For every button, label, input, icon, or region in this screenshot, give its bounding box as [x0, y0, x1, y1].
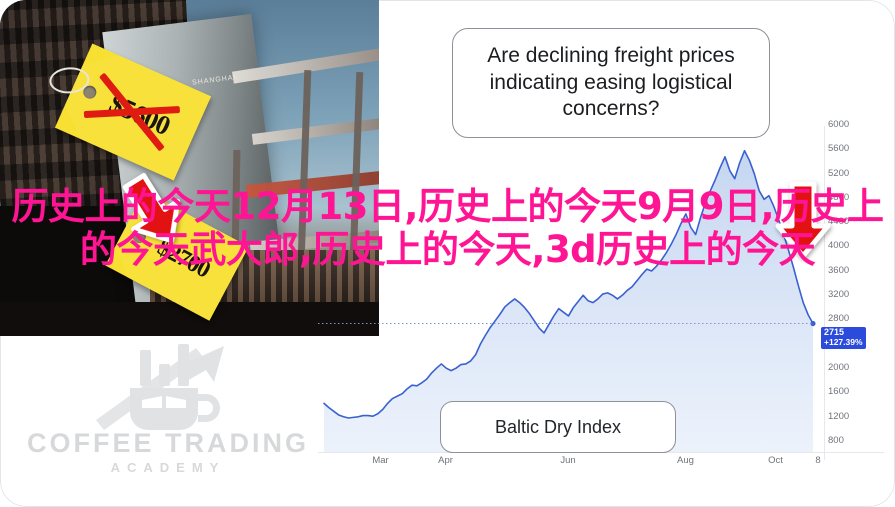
- coffee-trading-academy-logo: COFFEE TRADING ACADEMY: [18, 342, 318, 492]
- x-axis-ticks: MarAprJunAugOct8: [318, 455, 830, 475]
- x-axis-tick: 8: [815, 455, 820, 466]
- y-axis-tick: 3200: [828, 289, 849, 300]
- x-axis-tick: Mar: [372, 455, 388, 466]
- speech-bubble-text: Are declining freight prices indicating …: [453, 43, 769, 124]
- y-axis-tick: 3600: [828, 265, 849, 276]
- logo-wordmark: COFFEE TRADING: [18, 428, 318, 459]
- x-axis-tick: Jun: [560, 455, 575, 466]
- y-axis-tick: 5600: [828, 143, 849, 154]
- y-axis-tick: 1200: [828, 411, 849, 422]
- y-axis-divider: [824, 126, 825, 460]
- chart-caption-text: Baltic Dry Index: [495, 417, 621, 438]
- y-axis-tick: 2800: [828, 313, 849, 324]
- x-axis-tick: Aug: [677, 455, 694, 466]
- y-axis-tick: 2000: [828, 362, 849, 373]
- last-value-change: +127.39%: [824, 338, 863, 347]
- chart-caption-pill: Baltic Dry Index: [440, 401, 676, 453]
- logo-subtext: ACADEMY: [18, 460, 318, 475]
- screenshot-root: SHANGHAI $5600 $2700 Are declining freig…: [0, 0, 895, 507]
- x-axis-tick: Oct: [768, 455, 783, 466]
- y-axis-tick: 1600: [828, 386, 849, 397]
- y-axis-tick: 6000: [828, 119, 849, 130]
- y-axis-tick: 5200: [828, 168, 849, 179]
- x-axis-tick: Apr: [438, 455, 453, 466]
- logo-mark-icon: [18, 342, 318, 432]
- last-value-badge: 2715 +127.39%: [821, 327, 866, 349]
- y-axis-ticks: 6000560052004800440040003600320028002400…: [828, 130, 884, 460]
- red-down-arrow-right-icon: [772, 180, 834, 260]
- y-axis-tick: 800: [828, 435, 844, 446]
